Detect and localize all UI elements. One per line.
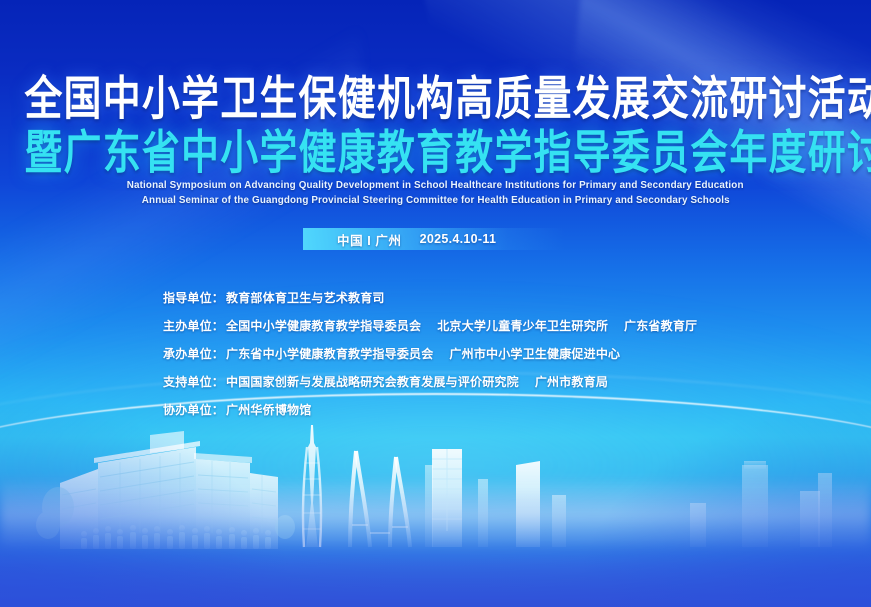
english-subtitle-line-1: National Symposium on Advancing Quality … — [127, 178, 744, 193]
organization-names: 教育部体育卫生与艺术教育司 — [226, 289, 385, 306]
organization-role-label: 主办单位： — [163, 317, 224, 334]
organization-role-label: 承办单位： — [163, 345, 224, 362]
organization-name: 教育部体育卫生与艺术教育司 — [226, 289, 385, 306]
conference-poster: 全国中小学卫生保健机构高质量发展交流研讨活动 暨广东省中小学健康教育教学指导委员… — [0, 0, 871, 607]
organization-names: 广东省中小学健康教育教学指导委员会广州市中小学卫生健康促进中心 — [226, 345, 620, 362]
organization-name: 广州华侨博物馆 — [226, 401, 311, 418]
organization-row: 支持单位：中国国家创新与发展战略研究会教育发展与评价研究院广州市教育局 — [163, 373, 697, 390]
organization-name: 北京大学儿童青少年卫生研究所 — [437, 317, 608, 334]
organization-row: 承办单位：广东省中小学健康教育教学指导委员会广州市中小学卫生健康促进中心 — [163, 345, 697, 362]
organization-role-label: 支持单位： — [163, 373, 224, 390]
organization-name: 广州市中小学卫生健康促进中心 — [449, 345, 620, 362]
organization-row: 主办单位：全国中小学健康教育教学指导委员会北京大学儿童青少年卫生研究所广东省教育… — [163, 317, 697, 334]
organization-role-label: 指导单位： — [163, 289, 224, 306]
organization-names: 中国国家创新与发展战略研究会教育发展与评价研究院广州市教育局 — [226, 373, 608, 390]
organization-names: 广州华侨博物馆 — [226, 401, 311, 418]
organization-name: 广东省中小学健康教育教学指导委员会 — [226, 345, 433, 362]
english-subtitle-line-2: Annual Seminar of the Guangdong Provinci… — [142, 193, 730, 208]
organization-name: 中国国家创新与发展战略研究会教育发展与评价研究院 — [226, 373, 519, 390]
organization-name: 广州市教育局 — [535, 373, 608, 390]
headline-line-2: 暨广东省中小学健康教育教学指导委员会年度研讨活动 — [25, 130, 847, 176]
organization-name: 广东省教育厅 — [624, 317, 697, 334]
organization-role-label: 协办单位： — [163, 401, 224, 418]
location-date-badge: 中国 I 广州 2025.4.10-11 — [303, 228, 565, 250]
headline-line-1: 全国中小学卫生保健机构高质量发展交流研讨活动 — [25, 76, 847, 125]
badge-location: 中国 I 广州 — [337, 230, 402, 249]
organization-names: 全国中小学健康教育教学指导委员会北京大学儿童青少年卫生研究所广东省教育厅 — [226, 317, 697, 334]
organization-name: 全国中小学健康教育教学指导委员会 — [226, 317, 421, 334]
english-subtitle: National Symposium on Advancing Quality … — [0, 178, 871, 208]
organization-row: 协办单位：广州华侨博物馆 — [163, 401, 697, 418]
organization-row: 指导单位：教育部体育卫生与艺术教育司 — [163, 289, 697, 306]
badge-date: 2025.4.10-11 — [420, 232, 497, 246]
organization-list: 指导单位：教育部体育卫生与艺术教育司主办单位：全国中小学健康教育教学指导委员会北… — [163, 289, 697, 418]
poster-headline: 全国中小学卫生保健机构高质量发展交流研讨活动 暨广东省中小学健康教育教学指导委员… — [0, 76, 871, 170]
